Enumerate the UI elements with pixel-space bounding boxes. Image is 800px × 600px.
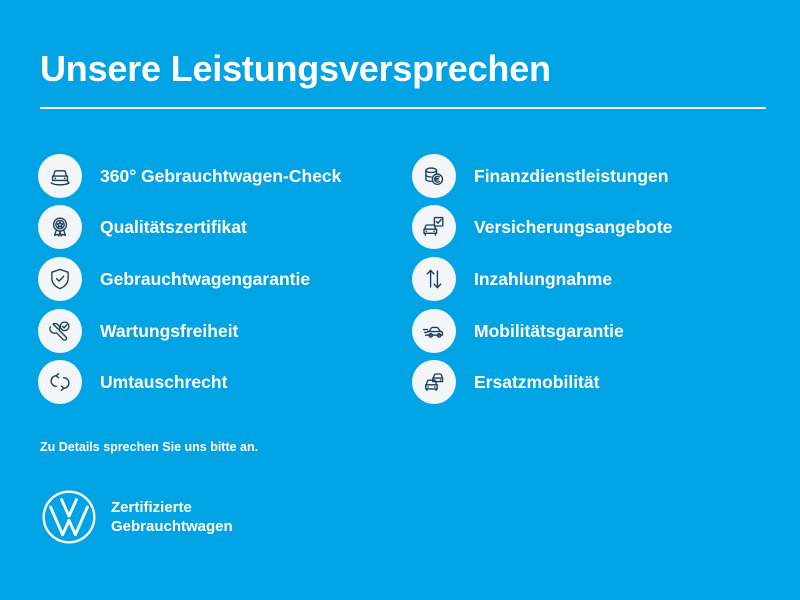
benefit-item-mobility-guarantee[interactable]: Mobilitätsgarantie (412, 305, 772, 357)
volkswagen-logo (41, 489, 97, 545)
benefit-label: 360° Gebrauchtwagen-Check (100, 166, 341, 186)
benefit-label: Umtauschrecht (100, 372, 227, 392)
benefit-item-trade-in[interactable]: Inzahlungnahme (412, 253, 772, 305)
two-cars-icon (412, 360, 456, 404)
coins-euro-icon (412, 154, 456, 198)
benefit-item-maintenance[interactable]: Wartungsfreiheit (38, 305, 398, 357)
brand-text: Zertifizierte Gebrauchtwagen (111, 498, 233, 536)
shield-check-icon (38, 257, 82, 301)
brand-lockup: Zertifizierte Gebrauchtwagen (41, 489, 233, 545)
brand-line-1: Zertifizierte (111, 498, 233, 517)
car-motion-icon (412, 309, 456, 353)
benefit-label: Gebrauchtwagengarantie (100, 269, 310, 289)
benefit-item-warranty[interactable]: Gebrauchtwagengarantie (38, 253, 398, 305)
benefits-column-left: 360° Gebrauchtwagen-Check Qualitätszerti… (38, 150, 398, 408)
benefit-label: Versicherungsangebote (474, 217, 672, 237)
wrench-check-icon (38, 309, 82, 353)
page-title: Unsere Leistungsversprechen (40, 47, 551, 91)
promise-slide: Unsere Leistungsversprechen 360° Gebrauc… (0, 0, 800, 600)
footnote-text: Zu Details sprechen Sie uns bitte an. (40, 440, 258, 454)
car-360-check-icon (38, 154, 82, 198)
exchange-arrows-icon (38, 360, 82, 404)
title-divider (40, 107, 766, 109)
benefit-label: Ersatzmobilität (474, 372, 599, 392)
benefit-item-financial-services[interactable]: Finanzdienstleistungen (412, 150, 772, 202)
brand-line-2: Gebrauchtwagen (111, 517, 233, 536)
award-rosette-icon (38, 205, 82, 249)
benefit-item-360-check[interactable]: 360° Gebrauchtwagen-Check (38, 150, 398, 202)
benefit-label: Wartungsfreiheit (100, 321, 238, 341)
benefit-label: Qualitätszertifikat (100, 217, 247, 237)
benefit-item-insurance[interactable]: Versicherungsangebote (412, 202, 772, 254)
arrows-up-down-icon (412, 257, 456, 301)
car-document-check-icon (412, 205, 456, 249)
benefit-item-replacement-mobility[interactable]: Ersatzmobilität (412, 356, 772, 408)
benefit-label: Finanzdienstleistungen (474, 166, 668, 186)
benefit-label: Mobilitätsgarantie (474, 321, 624, 341)
benefit-label: Inzahlungnahme (474, 269, 612, 289)
benefit-item-quality-certificate[interactable]: Qualitätszertifikat (38, 202, 398, 254)
benefit-item-exchange-right[interactable]: Umtauschrecht (38, 356, 398, 408)
benefits-column-right: Finanzdienstleistungen Versicherungsange… (412, 150, 772, 408)
